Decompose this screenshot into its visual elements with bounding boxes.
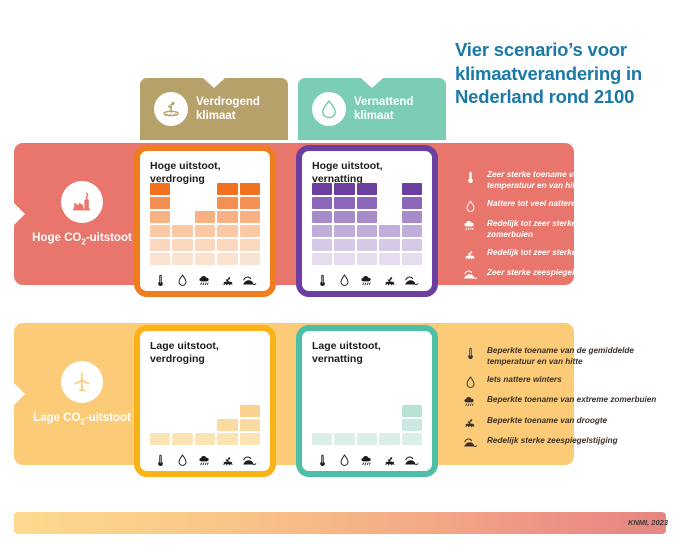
legend-item-text: Redelijk tot zeer sterke toename van ext… (487, 219, 674, 241)
rain-cloud-icon (195, 455, 215, 467)
bar-column-water-drop (334, 433, 354, 445)
bar-cell (217, 211, 237, 223)
legend-item: Redelijk tot zeer sterke toename van dro… (462, 248, 674, 261)
bar-cell (312, 253, 332, 265)
wilting-plant-icon (154, 92, 188, 126)
bar-cell (240, 239, 260, 251)
rain-cloud-icon (357, 275, 377, 287)
scenario-card-1[interactable]: Hoge uitstoot,verdroging (134, 145, 276, 297)
scenario-card-2[interactable]: Hoge uitstoot,vernatting (296, 145, 438, 297)
tab-notch (361, 78, 383, 88)
indicator-icon-row (150, 447, 260, 467)
bar-column-drought (379, 433, 399, 445)
sea-level-rise-icon (240, 275, 260, 287)
water-drop-icon (172, 454, 192, 467)
rain-cloud-icon (357, 455, 377, 467)
water-drop-icon (312, 92, 346, 126)
bar-cell (402, 239, 422, 251)
legend-item: Beperkte toename van droogte (462, 416, 674, 429)
bar-cell (402, 225, 422, 237)
rain-cloud-icon (462, 395, 478, 408)
bar-cell (217, 253, 237, 265)
bar-cell (402, 183, 422, 195)
legend-item: Iets nattere winters (462, 375, 674, 389)
bar-column-water-drop (334, 183, 354, 265)
bar-cell (217, 183, 237, 195)
card-title-line-1: Hoge uitstoot, (150, 160, 260, 173)
bar-cell (150, 239, 170, 251)
sea-level-rise-icon (462, 436, 478, 449)
bar-cell (312, 197, 332, 209)
bar-cell (379, 433, 399, 445)
legend-item-text: Redelijk tot zeer sterke toename van dro… (487, 248, 661, 259)
bar-cell (240, 433, 260, 445)
bar-cell (150, 433, 170, 445)
bar-cell (195, 253, 215, 265)
indicator-icon-row (150, 267, 260, 287)
bar-cell (402, 405, 422, 417)
bar-cell (402, 211, 422, 223)
title-line-1: Vier scenario’s voor (455, 38, 670, 62)
title-line-3: Nederland rond 2100 (455, 85, 670, 109)
water-drop-icon (172, 274, 192, 287)
bar-cell (312, 225, 332, 237)
bar-cell (217, 197, 237, 209)
infographic-root: Vier scenario’s voor klimaatverandering … (0, 0, 680, 560)
water-drop-icon (334, 454, 354, 467)
bar-cell (357, 183, 377, 195)
bar-cell (240, 183, 260, 195)
thermometer-icon (312, 454, 332, 467)
thermometer-icon (150, 454, 170, 467)
footer-gradient-bar (14, 512, 666, 534)
bar-cell (240, 419, 260, 431)
legend-low-emissions: Beperkte toename van de gemiddelde tempe… (462, 346, 674, 455)
indicator-bar-grid (150, 361, 260, 445)
tab-label-line-2: klimaat (354, 109, 413, 123)
bar-cell (312, 239, 332, 251)
bar-cell (172, 225, 192, 237)
bar-cell (334, 183, 354, 195)
bar-cell (357, 225, 377, 237)
bar-cell (217, 225, 237, 237)
band-label-prefix: Hoge CO (32, 232, 81, 244)
bar-cell (334, 433, 354, 445)
indicator-icon-row (312, 447, 422, 467)
bar-cell (312, 211, 332, 223)
title-line-2: klimaatverandering in (455, 62, 670, 86)
bar-column-sea-level-rise (402, 405, 422, 445)
water-drop-icon (334, 274, 354, 287)
page-title: Vier scenario’s voor klimaatverandering … (455, 38, 670, 109)
bar-cell (402, 197, 422, 209)
bar-cell (150, 183, 170, 195)
bar-cell (150, 225, 170, 237)
bar-column-rain-cloud (195, 211, 215, 265)
drought-icon (217, 275, 237, 287)
card-title-line-1: Hoge uitstoot, (312, 160, 422, 173)
band-label-prefix: Lage CO (33, 412, 80, 424)
bar-cell (357, 211, 377, 223)
bar-cell (402, 253, 422, 265)
tab-label-line-1: Vernattend (354, 95, 413, 109)
bar-cell (172, 433, 192, 445)
legend-item-text: Nattere tot veel nattere winters (487, 199, 607, 210)
bar-cell (312, 433, 332, 445)
bar-cell (357, 197, 377, 209)
bar-cell (334, 197, 354, 209)
thermometer-icon (462, 346, 478, 360)
card-title-line-1: Lage uitstoot, (312, 340, 422, 353)
bar-cell (357, 253, 377, 265)
legend-item-text: Redelijk sterke zeespiegelstijging (487, 436, 618, 447)
bar-cell (240, 211, 260, 223)
bar-cell (217, 433, 237, 445)
bar-cell (334, 225, 354, 237)
bar-cell (334, 211, 354, 223)
bar-column-drought (217, 419, 237, 445)
scenario-card-4[interactable]: Lage uitstoot,vernatting (296, 325, 438, 477)
bar-cell (195, 239, 215, 251)
tab-notch (203, 78, 225, 88)
bar-column-sea-level-rise (402, 183, 422, 265)
bar-column-water-drop (172, 225, 192, 265)
legend-high-emissions: Zeer sterke toename van de gemiddelde te… (462, 170, 674, 288)
bar-column-drought (217, 183, 237, 265)
band-inner: Hoge CO2-uitstoot (14, 143, 150, 285)
bar-cell (334, 239, 354, 251)
drought-icon (379, 275, 399, 287)
sea-level-rise-icon (240, 455, 260, 467)
bar-column-thermometer (312, 433, 332, 445)
legend-item-text: Zeer sterke toename van de gemiddelde te… (487, 170, 674, 192)
indicator-bar-grid (312, 361, 422, 445)
bar-cell (195, 211, 215, 223)
wind-turbine-icon (61, 361, 103, 403)
band-label: Hoge CO2-uitstoot (32, 232, 132, 246)
bar-cell (357, 239, 377, 251)
bar-cell (195, 225, 215, 237)
card-title-line-1: Lage uitstoot, (150, 340, 260, 353)
bar-cell (195, 433, 215, 445)
bar-cell (402, 433, 422, 445)
factory-icon (61, 181, 103, 223)
bar-column-thermometer (150, 183, 170, 265)
bar-cell (150, 211, 170, 223)
thermometer-icon (150, 274, 170, 287)
tab-vernattend-klimaat[interactable]: Vernattend klimaat (298, 78, 446, 140)
tab-label-line-1: Verdrogend (196, 95, 260, 109)
bar-column-thermometer (150, 433, 170, 445)
tab-label-line-2: klimaat (196, 109, 260, 123)
water-drop-icon (462, 375, 478, 389)
indicator-icon-row (312, 267, 422, 287)
bar-cell (172, 253, 192, 265)
legend-item: Zeer sterke zeespiegelstijging (462, 268, 674, 281)
legend-item-text: Iets nattere winters (487, 375, 562, 386)
legend-item: Redelijk sterke zeespiegelstijging (462, 436, 674, 449)
rain-cloud-icon (462, 219, 478, 232)
bar-column-sea-level-rise (240, 183, 260, 265)
bar-cell (150, 197, 170, 209)
bar-cell (379, 253, 399, 265)
legend-item-text: Beperkte toename van droogte (487, 416, 607, 427)
bar-cell (402, 419, 422, 431)
band-inner: Lage CO2-uitstoot (14, 323, 150, 465)
bar-cell (379, 239, 399, 251)
bar-column-drought (379, 225, 399, 265)
scenario-card-3[interactable]: Lage uitstoot,verdroging (134, 325, 276, 477)
footer-credit: KNMI, 2023 (628, 518, 668, 527)
bar-cell (172, 239, 192, 251)
bar-cell (240, 253, 260, 265)
bar-column-sea-level-rise (240, 405, 260, 445)
legend-item: Beperkte toename van de gemiddelde tempe… (462, 346, 674, 368)
legend-item-text: Beperkte toename van extreme zomerbuien (487, 395, 656, 406)
rain-cloud-icon (195, 275, 215, 287)
tab-label: Vernattend klimaat (354, 95, 413, 124)
bar-column-rain-cloud (357, 183, 377, 265)
bar-cell (312, 183, 332, 195)
legend-item: Nattere tot veel nattere winters (462, 199, 674, 213)
bar-cell (379, 225, 399, 237)
bar-cell (217, 239, 237, 251)
sea-level-rise-icon (402, 455, 422, 467)
legend-item-text: Beperkte toename van de gemiddelde tempe… (487, 346, 674, 368)
bar-column-rain-cloud (195, 433, 215, 445)
band-label-suffix: -uitstoot (85, 412, 131, 424)
legend-item: Zeer sterke toename van de gemiddelde te… (462, 170, 674, 192)
indicator-bar-grid (312, 181, 422, 265)
bar-column-rain-cloud (357, 433, 377, 445)
drought-icon (462, 248, 478, 261)
bar-cell (240, 405, 260, 417)
sea-level-rise-icon (462, 268, 478, 281)
drought-icon (379, 455, 399, 467)
bar-column-thermometer (312, 183, 332, 265)
drought-icon (462, 416, 478, 429)
bar-cell (150, 253, 170, 265)
bar-column-water-drop (172, 433, 192, 445)
tab-label: Verdrogend klimaat (196, 95, 260, 124)
drought-icon (217, 455, 237, 467)
band-label: Lage CO2-uitstoot (33, 412, 131, 426)
bar-cell (217, 419, 237, 431)
band-label-suffix: -uitstoot (86, 232, 132, 244)
bar-cell (240, 225, 260, 237)
water-drop-icon (462, 199, 478, 213)
tab-verdrogend-klimaat[interactable]: Verdrogend klimaat (140, 78, 288, 140)
legend-item-text: Zeer sterke zeespiegelstijging (487, 268, 604, 279)
legend-item: Beperkte toename van extreme zomerbuien (462, 395, 674, 408)
legend-item: Redelijk tot zeer sterke toename van ext… (462, 219, 674, 241)
bar-cell (334, 253, 354, 265)
thermometer-icon (312, 274, 332, 287)
thermometer-icon (462, 170, 478, 184)
indicator-bar-grid (150, 181, 260, 265)
bar-cell (357, 433, 377, 445)
sea-level-rise-icon (402, 275, 422, 287)
bar-cell (240, 197, 260, 209)
